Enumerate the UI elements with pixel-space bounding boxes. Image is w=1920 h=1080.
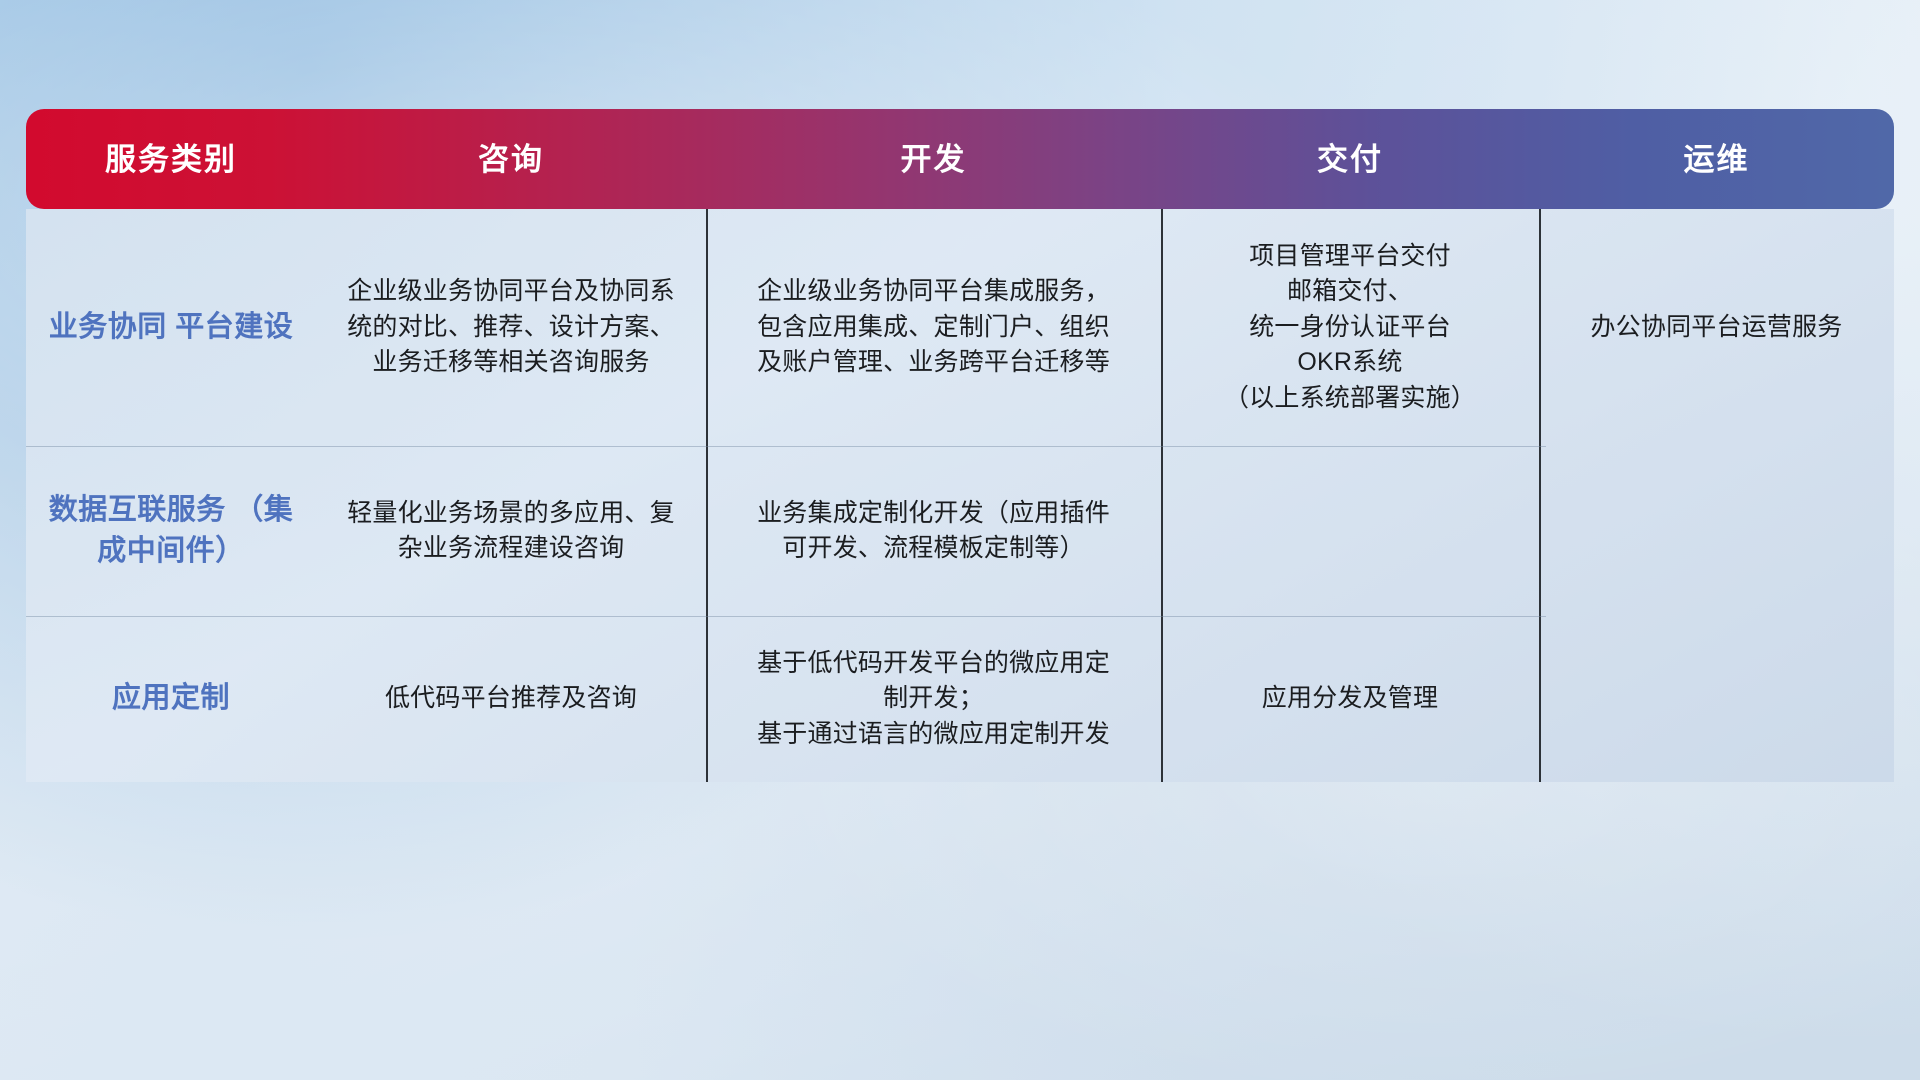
cell-text: 企业级业务协同平台集成服务， 包含应用集成、定制门户、组织 及账户管理、业务跨平… <box>757 274 1110 381</box>
cell-delivery <box>1161 446 1539 616</box>
service-matrix-table: 服务类别 咨询 开发 交付 运维 业务协同 平台建设 企业级业务协同平台及协同系… <box>26 109 1894 782</box>
cell-delivery: 应用分发及管理 <box>1161 616 1539 782</box>
cell-category: 数据互联服务 （集成中间件） <box>26 446 316 616</box>
category-label: 业务协同 平台建设 <box>49 307 294 348</box>
cell-text: 业务集成定制化开发（应用插件 可开发、流程模板定制等） <box>757 496 1110 567</box>
table-row: 应用定制 低代码平台推荐及咨询 基于低代码开发平台的微应用定 制开发； 基于通过… <box>26 616 1894 782</box>
cell-development: 企业级业务协同平台集成服务， 包含应用集成、定制门户、组织 及账户管理、业务跨平… <box>706 209 1161 446</box>
cell-text: 办公协同平台运营服务 <box>1590 310 1842 346</box>
cell-text: 应用分发及管理 <box>1262 681 1438 717</box>
column-header-operations: 运维 <box>1539 144 1894 175</box>
column-header-development: 开发 <box>706 144 1161 175</box>
cell-consulting: 企业级业务协同平台及协同系 统的对比、推荐、设计方案、 业务迁移等相关咨询服务 <box>316 209 706 446</box>
category-label: 数据互联服务 （集成中间件） <box>36 490 306 572</box>
cell-text: 基于低代码开发平台的微应用定 制开发； 基于通过语言的微应用定制开发 <box>757 646 1110 753</box>
cell-delivery: 项目管理平台交付 邮箱交付、 统一身份认证平台 OKR系统 （以上系统部署实施） <box>1161 209 1539 446</box>
cell-operations <box>1539 446 1894 616</box>
cell-text: 轻量化业务场景的多应用、复 杂业务流程建设咨询 <box>347 496 675 567</box>
cell-text: 低代码平台推荐及咨询 <box>385 681 637 717</box>
column-header-category: 服务类别 <box>26 144 316 175</box>
cell-text: 项目管理平台交付 邮箱交付、 统一身份认证平台 OKR系统 （以上系统部署实施） <box>1224 239 1476 417</box>
table-row: 数据互联服务 （集成中间件） 轻量化业务场景的多应用、复 杂业务流程建设咨询 业… <box>26 446 1894 616</box>
cell-consulting: 轻量化业务场景的多应用、复 杂业务流程建设咨询 <box>316 446 706 616</box>
cell-development: 基于低代码开发平台的微应用定 制开发； 基于通过语言的微应用定制开发 <box>706 616 1161 782</box>
cell-text: 企业级业务协同平台及协同系 统的对比、推荐、设计方案、 业务迁移等相关咨询服务 <box>347 274 675 381</box>
cell-category: 应用定制 <box>26 616 316 782</box>
table-header-row: 服务类别 咨询 开发 交付 运维 <box>26 109 1894 209</box>
category-label: 应用定制 <box>112 678 230 719</box>
cell-category: 业务协同 平台建设 <box>26 209 316 446</box>
cell-operations <box>1539 616 1894 782</box>
cell-consulting: 低代码平台推荐及咨询 <box>316 616 706 782</box>
cell-operations: 办公协同平台运营服务 <box>1539 209 1894 446</box>
table-row: 业务协同 平台建设 企业级业务协同平台及协同系 统的对比、推荐、设计方案、 业务… <box>26 209 1894 446</box>
column-header-consulting: 咨询 <box>316 144 706 175</box>
cell-development: 业务集成定制化开发（应用插件 可开发、流程模板定制等） <box>706 446 1161 616</box>
table-body: 业务协同 平台建设 企业级业务协同平台及协同系 统的对比、推荐、设计方案、 业务… <box>26 209 1894 782</box>
column-header-delivery: 交付 <box>1161 144 1539 175</box>
